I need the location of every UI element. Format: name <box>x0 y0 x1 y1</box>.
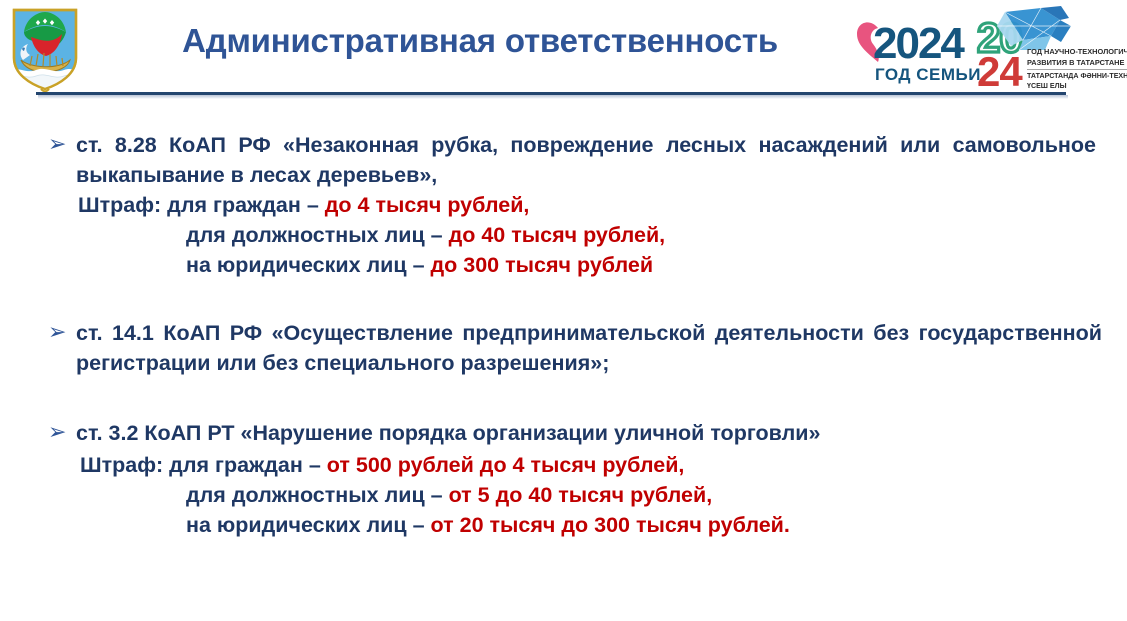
svg-text:2024: 2024 <box>873 19 965 68</box>
bullet-marker-icon: ➢ <box>48 321 66 343</box>
fine-citizens-label: Штраф: для граждан – <box>78 193 325 217</box>
slide-canvas: Административная ответственность 2024 ГО… <box>0 0 1127 621</box>
bullet-1-fine-legal-entities: на юридических лиц – до 300 тысяч рублей <box>186 250 653 280</box>
svg-text:ГОД СЕМЬИ: ГОД СЕМЬИ <box>875 65 981 84</box>
fine-citizens-label: Штраф: для граждан – <box>80 453 327 477</box>
fine-legal-value: до 300 тысяч рублей <box>431 253 654 277</box>
bullet-3-statute-text: ст. 3.2 КоАП РТ «Нарушение порядка орган… <box>76 418 1098 448</box>
logo-caption-line2: РАЗВИТИЯ В ТАТАРСТАНЕ <box>1027 58 1125 67</box>
bullet-1-statute-label: ст. 8.28 КоАП РФ «Незаконная рубка, повр… <box>76 133 1096 187</box>
year-of-technology-logo: 20 24 <box>977 6 1127 92</box>
bullet-1-statute-text: ст. 8.28 КоАП РФ «Незаконная рубка, повр… <box>76 130 1096 190</box>
bullet-3-fine-legal-entities: на юридических лиц – от 20 тысяч до 300 … <box>186 510 790 540</box>
slide-header: Административная ответственность 2024 ГО… <box>0 0 1127 100</box>
fine-officials-value: до 40 тысяч рублей, <box>449 223 666 247</box>
page-title: Административная ответственность <box>120 22 840 60</box>
fine-citizens-value: от 500 рублей до 4 тысяч рублей, <box>327 453 685 477</box>
fine-citizens-value: до 4 тысяч рублей, <box>325 193 530 217</box>
anniversary-logos: 2024 ГОД СЕМЬИ 20 24 <box>855 6 1127 92</box>
bullet-1-fine-citizens: Штраф: для граждан – до 4 тысяч рублей, <box>78 190 529 220</box>
bullet-2-statute-label: ст. 14.1 КоАП РФ «Осуществление предприн… <box>76 321 1102 375</box>
logo-caption-line3: ТАТАРСТАНДА ФӘННИ-ТЕХНОЛОГИК <box>1027 72 1127 80</box>
svg-text:24: 24 <box>977 48 1023 92</box>
bullet-3-fine-citizens: Штраф: для граждан – от 500 рублей до 4 … <box>80 450 684 480</box>
header-divider <box>36 92 1066 101</box>
fine-officials-value: от 5 до 40 тысяч рублей, <box>449 483 713 507</box>
bullet-3-statute-label: ст. 3.2 КоАП РТ «Нарушение порядка орган… <box>76 421 820 445</box>
year-of-family-logo: 2024 ГОД СЕМЬИ <box>857 19 981 84</box>
header-divider-shadow <box>38 95 1068 99</box>
logo-caption-line4: ҮСЕШ ЕЛЫ <box>1027 82 1067 90</box>
bullet-marker-icon: ➢ <box>48 421 66 443</box>
fine-legal-label: на юридических лиц – <box>186 513 431 537</box>
fine-officials-label: для должностных лиц – <box>186 223 449 247</box>
fine-officials-label: для должностных лиц – <box>186 483 449 507</box>
fine-legal-value: от 20 тысяч до 300 тысяч рублей. <box>431 513 790 537</box>
bullet-3-fine-officials: для должностных лиц – от 5 до 40 тысяч р… <box>186 480 712 510</box>
kazan-coat-of-arms-icon <box>8 4 82 96</box>
logo-caption-line1: ГОД НАУЧНО-ТЕХНОЛОГИЧЕСКОГО <box>1027 47 1127 56</box>
bullet-2-statute-text: ст. 14.1 КоАП РФ «Осуществление предприн… <box>76 318 1102 378</box>
fine-legal-label: на юридических лиц – <box>186 253 431 277</box>
bullet-marker-icon: ➢ <box>48 133 66 155</box>
bullet-1-fine-officials: для должностных лиц – до 40 тысяч рублей… <box>186 220 665 250</box>
